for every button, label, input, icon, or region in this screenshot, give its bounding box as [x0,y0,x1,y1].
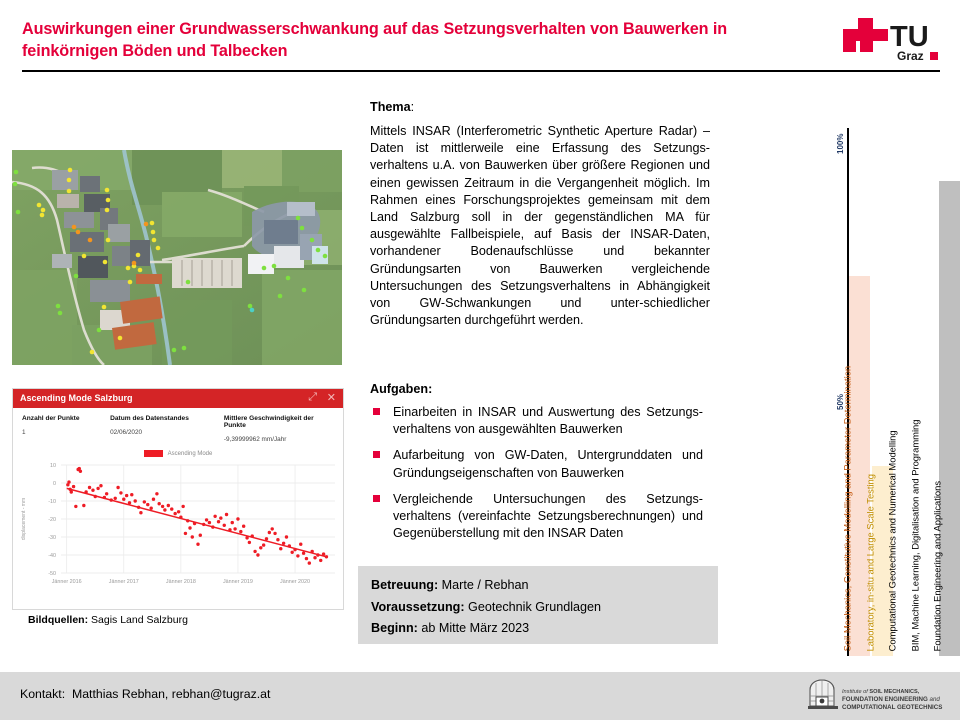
contact-value: Matthias Rebhan, rebhan@tugraz.at [72,687,270,701]
tugraz-logo: TU Graz [838,14,942,64]
info-value: Marte / Rebhan [442,578,529,592]
list-item: Vergleichende Untersuchungen des Setzung… [370,491,712,543]
svg-text:-50: -50 [48,571,56,577]
header-divider [22,70,940,72]
aufgaben-list: Einarbeiten in INSAR und Auswertung des … [370,404,712,551]
list-item-label: Vergleichende Untersuchungen des Setzung… [393,491,703,543]
close-icon[interactable]: ✕ [327,391,336,404]
list-item: Aufarbeitung von GW-Daten, Untergrunddat… [370,447,712,481]
expand-icon[interactable]: ⤢ [308,391,317,404]
aerial-satellite-image [12,150,342,365]
chart-bars-container: Soil Mechanics, Constitutive Modelling a… [849,128,960,656]
legend-swatch [144,450,163,457]
table-column-velocity: Mittlere Geschwindigkeit der Punkte -9,3… [224,415,334,443]
insar-metadata-table: Anzahl der Punkte 1 Datum des Datenstand… [13,408,343,443]
bullet-square-icon [373,451,380,458]
bullet-square-icon [373,408,380,415]
institute-logo: Institute of SOIL MECHANICS, FOUNDATION … [802,676,948,716]
list-item-label: Aufarbeitung von GW-Daten, Untergrunddat… [393,447,703,481]
insar-window-title: Ascending Mode Salzburg [20,393,133,403]
column-header: Anzahl der Punkte [22,415,110,422]
insar-scatter-plot: 100-10-20-30-40-50Jänner 2016Jänner 2017… [13,457,344,597]
chart-bar: Foundation Engineering and Applications [939,181,960,656]
svg-text:displacement - mm: displacement - mm [21,498,27,540]
info-row-betreuung: Betreuung: Marte / Rebhan [371,575,718,597]
chart-bar-label: Soil Mechanics, Constitutive Modelling a… [843,365,852,651]
image-source-note: Bildquellen: Sagis Land Salzburg [28,614,188,626]
svg-text:Graz: Graz [897,49,924,63]
image-source-label: Bildquellen: [28,614,88,626]
slide-root: Auswirkungen einer Grundwasserschwankung… [0,0,960,720]
column-value: -9,39999962 mm/Jahr [224,436,334,443]
info-value: Geotechnik Grundlagen [468,600,601,614]
svg-text:-10: -10 [48,499,56,505]
column-value: 1 [22,429,110,436]
list-item: Einarbeiten in INSAR und Auswertung des … [370,404,712,438]
svg-text:COMPUTATIONAL GEOTECHNICS: COMPUTATIONAL GEOTECHNICS [842,704,942,711]
chart-legend: Ascending Mode [13,450,343,457]
svg-text:Jänner 2020: Jänner 2020 [280,579,310,585]
svg-text:Jänner 2016: Jänner 2016 [52,579,82,585]
column-value: 02/06/2020 [110,429,224,436]
chart-bar-label: BIM, Machine Learning, Digitalisation an… [910,419,919,651]
competence-bar-chart: 100% 50% Soil Mechanics, Constitutive Mo… [820,110,960,660]
info-label: Voraussetzung: [371,600,465,614]
thema-heading-colon: : [411,100,415,114]
info-row-beginn: Beginn: ab Mitte März 2023 [371,618,718,640]
chart-bar-label: Foundation Engineering and Applications [933,481,942,651]
image-source-value: Sagis Land Salzburg [91,614,188,626]
info-row-voraussetzung: Voraussetzung: Geotechnik Grundlagen [371,597,718,619]
institute-emblem-icon [808,680,838,709]
svg-text:-40: -40 [48,553,56,559]
thema-paragraph: Mittels INSAR (Interferometric Synthetic… [370,123,710,329]
slide-footer: Kontakt: Matthias Rebhan, rebhan@tugraz.… [0,672,960,720]
column-header: Mittlere Geschwindigkeit der Punkte [224,415,334,429]
thema-heading: Thema: [370,100,414,114]
chart-bar-label: Computational Geotechnics and Numerical … [888,430,897,651]
thema-heading-text: Thema [370,100,411,114]
svg-text:-20: -20 [48,517,56,523]
info-label: Betreuung: [371,578,438,592]
chart-bar-label: Laboratory, in-situ and Large Scale Test… [865,474,874,651]
list-item-label: Einarbeiten in INSAR und Auswertung des … [393,404,703,438]
svg-text:Jänner 2018: Jänner 2018 [166,579,196,585]
page-title: Auswirkungen einer Grundwasserschwankung… [22,18,812,63]
info-label: Beginn: [371,621,418,635]
info-box: Betreuung: Marte / Rebhan Voraussetzung:… [358,566,718,644]
bullet-square-icon [373,495,380,502]
svg-text:Institute of SOIL MECHANICS,: Institute of SOIL MECHANICS, [842,689,920,695]
svg-text:FOUNDATION ENGINEERING and: FOUNDATION ENGINEERING and [842,696,940,703]
table-column-date: Datum des Datenstandes 02/06/2020 [110,415,224,443]
slide-header: Auswirkungen einer Grundwasserschwankung… [0,0,960,78]
insar-window-titlebar: Ascending Mode Salzburg ⤢ ✕ [13,389,343,408]
info-value: ab Mitte März 2023 [421,621,529,635]
axis-tick-100: 100% [836,134,845,154]
aufgaben-heading: Aufgaben: [370,382,432,396]
svg-text:0: 0 [53,481,56,487]
column-header: Datum des Datenstandes [110,415,224,422]
contact-line: Kontakt: Matthias Rebhan, rebhan@tugraz.… [20,687,270,701]
svg-text:Jänner 2019: Jänner 2019 [223,579,253,585]
svg-text:-30: -30 [48,535,56,541]
svg-text:10: 10 [50,463,56,469]
svg-text:Jänner 2017: Jänner 2017 [109,579,139,585]
insar-window[interactable]: Ascending Mode Salzburg ⤢ ✕ Anzahl der P… [12,388,344,610]
table-column-count: Anzahl der Punkte 1 [22,415,110,443]
contact-label: Kontakt: [20,687,65,701]
